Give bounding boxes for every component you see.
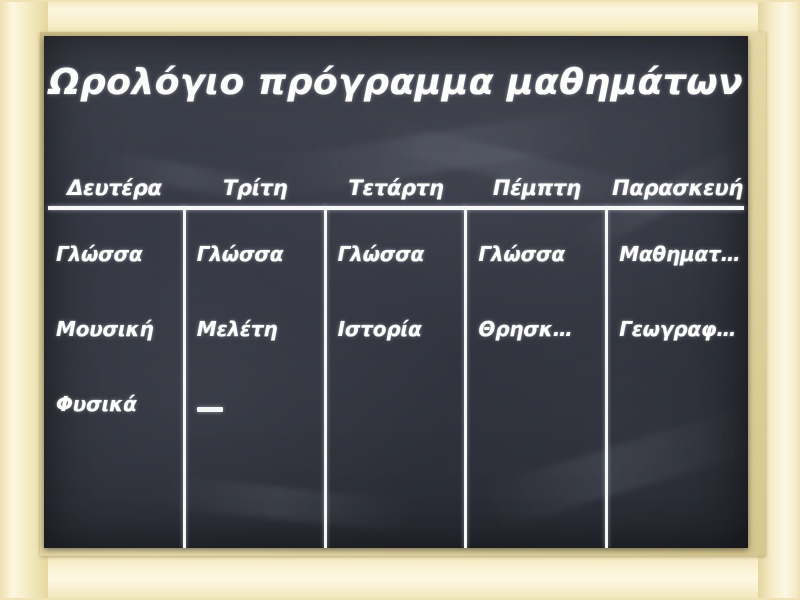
table-cell: Γεωγραφ… — [607, 291, 748, 366]
column-header-thursday: Πέμπτη — [466, 152, 607, 202]
timetable: Δευτέρα Τρίτη Τετάρτη Πέμπτη Παρασκευή Γ… — [44, 152, 748, 548]
table-cell: Γλώσσα — [466, 216, 607, 291]
table-cell — [326, 366, 467, 441]
column-monday: Γλώσσα Μουσική Φυσικά — [44, 210, 185, 548]
timetable-header-row: Δευτέρα Τρίτη Τετάρτη Πέμπτη Παρασκευή — [44, 152, 748, 202]
column-friday: Μαθηματ… Γεωγραφ… — [607, 210, 748, 548]
column-wednesday: Γλώσσα Ιστορία — [326, 210, 467, 548]
table-cell-dash — [185, 366, 326, 441]
column-header-friday: Παρασκευή — [607, 152, 748, 202]
timetable-body: Γλώσσα Μουσική Φυσικά Γλώσσα Μελέτη Γλώσ… — [44, 210, 748, 548]
table-cell: Μελέτη — [185, 291, 326, 366]
table-cell — [466, 366, 607, 441]
column-header-monday: Δευτέρα — [44, 152, 185, 202]
table-cell: Γλώσσα — [44, 216, 185, 291]
column-header-wednesday: Τετάρτη — [326, 152, 467, 202]
table-cell: Μαθηματ… — [607, 216, 748, 291]
dash-mark-icon — [197, 407, 223, 412]
table-cell: Γλώσσα — [185, 216, 326, 291]
table-cell: Ιστορία — [326, 291, 467, 366]
chalkboard-surface: Ωρολόγιο πρόγραμμα μαθημάτων Δευτέρα Τρί… — [44, 36, 748, 548]
table-cell: Μουσική — [44, 291, 185, 366]
page-title: Ωρολόγιο πρόγραμμα μαθημάτων — [44, 62, 748, 103]
column-header-tuesday: Τρίτη — [185, 152, 326, 202]
table-cell: Θρησκ… — [466, 291, 607, 366]
column-thursday: Γλώσσα Θρησκ… — [466, 210, 607, 548]
chalkboard-timetable-slide: Ωρολόγιο πρόγραμμα μαθημάτων Δευτέρα Τρί… — [0, 0, 800, 600]
table-cell: Φυσικά — [44, 366, 185, 441]
table-cell — [607, 366, 748, 441]
column-tuesday: Γλώσσα Μελέτη — [185, 210, 326, 548]
table-cell: Γλώσσα — [326, 216, 467, 291]
